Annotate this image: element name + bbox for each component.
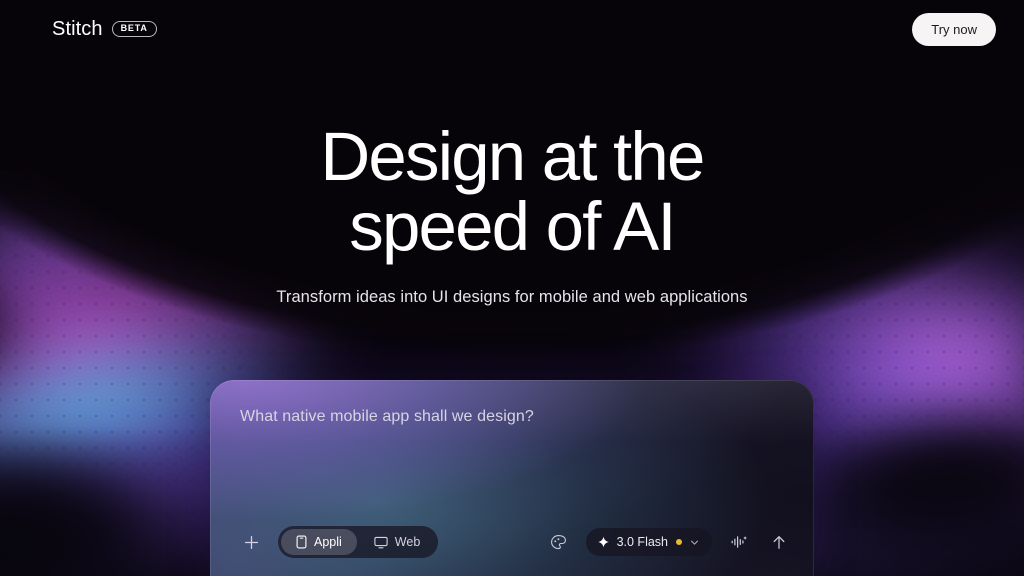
audio-waveform-icon[interactable] — [726, 529, 752, 555]
platform-option-web-label: Web — [395, 535, 420, 549]
arrow-up-icon — [771, 534, 787, 551]
prompt-composer-card: What native mobile app shall we design? — [210, 380, 814, 576]
monitor-icon — [374, 536, 388, 549]
toolbar-right-group: 3.0 Flash — [546, 528, 792, 556]
model-name-label: 3.0 Flash — [617, 535, 668, 549]
site-header: Stitch BETA Try now — [0, 0, 1024, 58]
landing-page: Stitch BETA Try now Design at the speed … — [0, 0, 1024, 576]
brand-logo[interactable]: Stitch BETA — [52, 18, 157, 41]
mobile-phone-icon — [296, 535, 307, 549]
status-badge — [676, 539, 682, 545]
try-now-button[interactable]: Try now — [912, 13, 996, 46]
beta-badge: BETA — [112, 21, 157, 37]
send-button[interactable] — [766, 529, 792, 555]
hero-subtitle: Transform ideas into UI designs for mobi… — [0, 288, 1024, 307]
hero-section: Design at the speed of AI Transform idea… — [0, 122, 1024, 307]
toolbar-left-group: Appli Web — [238, 526, 438, 558]
headline-line-1: Design at the — [320, 118, 703, 195]
headline-line-2: speed of AI — [349, 188, 674, 265]
platform-option-mobile[interactable]: Appli — [281, 529, 357, 555]
brand-name-label: Stitch — [52, 18, 103, 41]
chevron-down-icon — [689, 537, 700, 548]
platform-option-web[interactable]: Web — [359, 529, 435, 555]
palette-icon[interactable] — [546, 529, 572, 555]
model-selector-chip[interactable]: 3.0 Flash — [586, 528, 712, 556]
composer-toolbar: Appli Web — [210, 524, 814, 560]
platform-segmented-control: Appli Web — [278, 526, 438, 558]
page-title: Design at the speed of AI — [0, 122, 1024, 262]
sparkle-icon — [597, 536, 610, 549]
plus-icon[interactable] — [238, 529, 264, 555]
platform-option-mobile-label: Appli — [314, 535, 342, 549]
prompt-input[interactable]: What native mobile app shall we design? — [240, 408, 784, 426]
